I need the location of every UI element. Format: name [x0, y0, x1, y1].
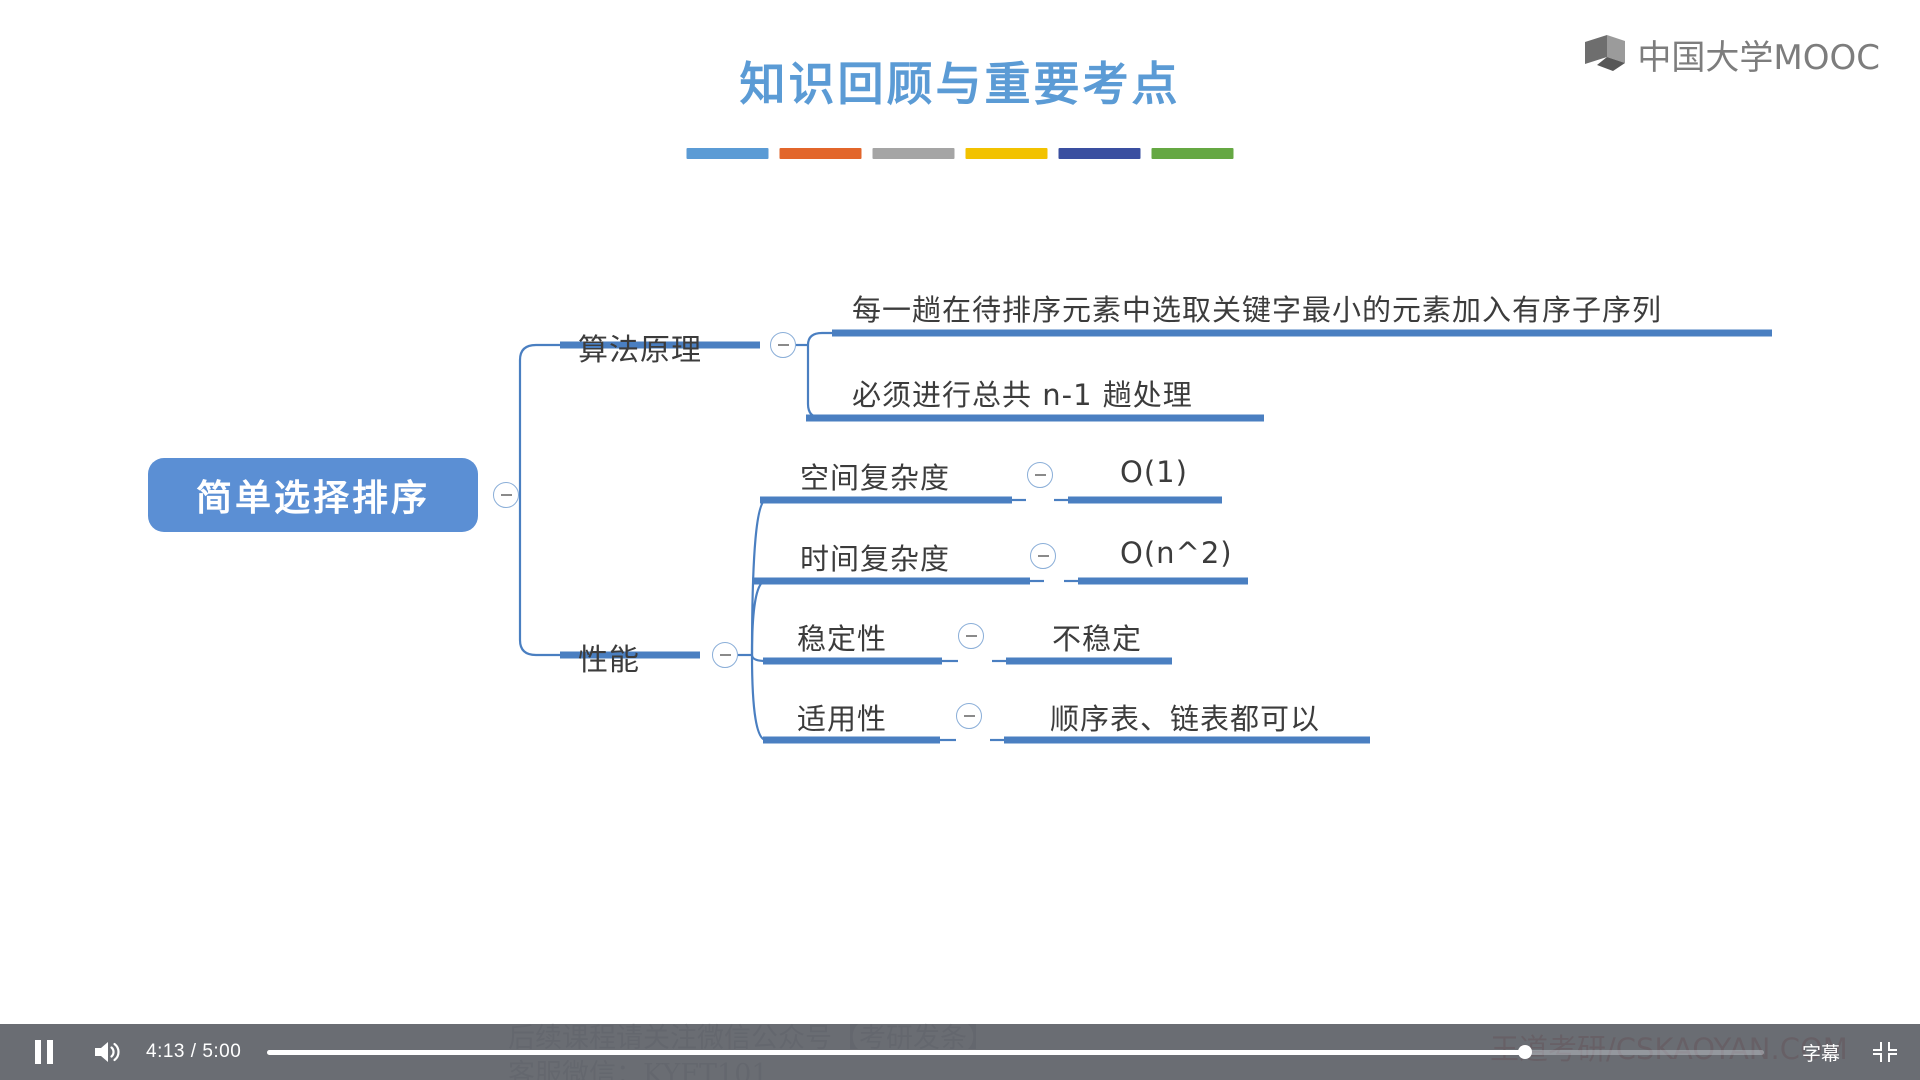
leaf-label-space-complexity[interactable]: 空间复杂度 [800, 455, 950, 497]
branch-collapse-toggle-algorithm-principle[interactable] [770, 332, 796, 358]
subtitle-button[interactable]: 字幕 [1786, 1024, 1856, 1080]
leaf-collapse-toggle-applicability[interactable] [956, 703, 982, 729]
value-time-complexity[interactable]: O(n^2) [1120, 536, 1233, 570]
mindmap-connectors [0, 0, 1920, 1080]
value-space-complexity[interactable]: O(1) [1120, 455, 1188, 489]
progress-handle[interactable] [1518, 1045, 1532, 1059]
root-collapse-toggle[interactable] [493, 482, 519, 508]
time-display: 4:13 / 5:00 [146, 1041, 241, 1063]
leaf-label-stability[interactable]: 稳定性 [797, 616, 887, 658]
slide-canvas: 中国大学MOOC 知识回顾与重要考点 [0, 0, 1920, 1080]
leaf-label-n-minus-1-passes[interactable]: 必须进行总共 n-1 趟处理 [852, 372, 1193, 414]
leaf-label-selection-rule[interactable]: 每一趟在待排序元素中选取关键字最小的元素加入有序子序列 [852, 287, 1662, 329]
volume-on-icon[interactable] [78, 1024, 134, 1080]
progress-filled [267, 1050, 1524, 1055]
pause-bars [35, 1040, 53, 1064]
branch-label-performance[interactable]: 性能 [578, 635, 640, 679]
leaf-collapse-toggle-space-complexity[interactable] [1027, 462, 1053, 488]
progress-track[interactable] [267, 1050, 1764, 1055]
pause-icon[interactable] [18, 1024, 70, 1080]
branch-label-algorithm-principle[interactable]: 算法原理 [578, 325, 702, 369]
mindmap-root-node[interactable]: 简单选择排序 [148, 458, 478, 532]
video-control-bar: 4:13 / 5:00 字幕 [0, 1024, 1920, 1080]
progress-bar[interactable] [267, 1024, 1764, 1080]
mindmap: 简单选择排序 算法原理 每一趟在待排序元素中选取关键字最小的元素加入有序子序列 … [0, 0, 1920, 1080]
leaf-collapse-toggle-stability[interactable] [958, 623, 984, 649]
branch-collapse-toggle-performance[interactable] [712, 642, 738, 668]
video-player-screen: 中国大学MOOC 知识回顾与重要考点 [0, 0, 1920, 1080]
leaf-label-time-complexity[interactable]: 时间复杂度 [800, 536, 950, 578]
leaf-collapse-toggle-time-complexity[interactable] [1030, 543, 1056, 569]
value-applicability[interactable]: 顺序表、链表都可以 [1050, 696, 1320, 738]
leaf-label-applicability[interactable]: 适用性 [797, 696, 887, 738]
exit-fullscreen-icon[interactable] [1856, 1024, 1914, 1080]
value-stability[interactable]: 不稳定 [1052, 616, 1142, 658]
